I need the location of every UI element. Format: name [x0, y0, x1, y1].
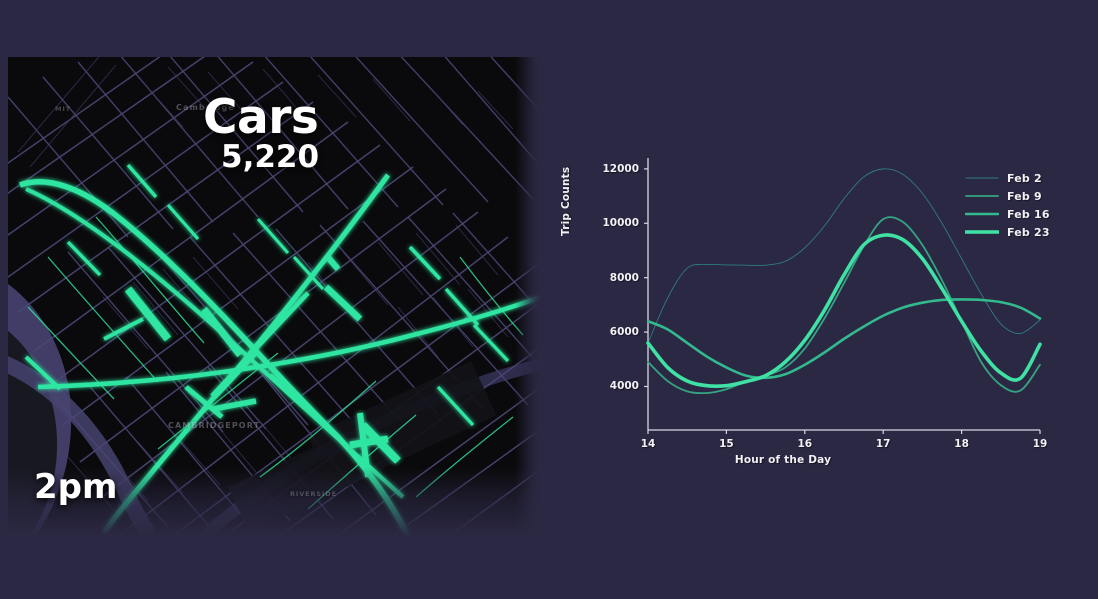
- x-tick-19: 19: [1033, 438, 1048, 450]
- y-axis-label: Trip Counts: [560, 167, 572, 236]
- legend-label: Feb 16: [1007, 208, 1050, 221]
- chart-line-feb-16: [648, 299, 1040, 377]
- y-tick-6000: 6000: [558, 326, 639, 338]
- y-tick-8000: 8000: [558, 272, 639, 284]
- legend-swatch-icon: [965, 173, 999, 183]
- legend-swatch-icon: [965, 191, 999, 201]
- legend-label: Feb 2: [1007, 172, 1042, 185]
- legend-item-feb-23[interactable]: Feb 23: [965, 223, 1085, 241]
- map-overlay-title: Cars: [203, 94, 318, 141]
- legend-swatch-icon: [965, 227, 999, 237]
- y-tick-4000: 4000: [558, 380, 639, 392]
- legend-item-feb-16[interactable]: Feb 16: [965, 205, 1085, 223]
- x-tick-14: 14: [641, 438, 656, 450]
- x-axis-label: Hour of the Day: [735, 454, 831, 466]
- map-overlay-time: 2pm: [34, 470, 117, 504]
- screenshot-root: Cambridge CAMBRIDGEPORT RIVERSIDE MIT Ca…: [0, 0, 1098, 599]
- x-tick-18: 18: [954, 438, 969, 450]
- map-overlay-count: 5,220: [221, 142, 319, 173]
- legend-item-feb-2[interactable]: Feb 2: [965, 169, 1085, 187]
- legend-label: Feb 23: [1007, 226, 1050, 239]
- x-tick-16: 16: [797, 438, 812, 450]
- chart-line-feb-9: [648, 217, 1040, 393]
- legend-swatch-icon: [965, 209, 999, 219]
- chart-legend[interactable]: Feb 2Feb 9Feb 16Feb 23: [965, 169, 1085, 241]
- x-tick-17: 17: [876, 438, 891, 450]
- legend-label: Feb 9: [1007, 190, 1042, 203]
- x-tick-15: 15: [719, 438, 734, 450]
- legend-item-feb-9[interactable]: Feb 9: [965, 187, 1085, 205]
